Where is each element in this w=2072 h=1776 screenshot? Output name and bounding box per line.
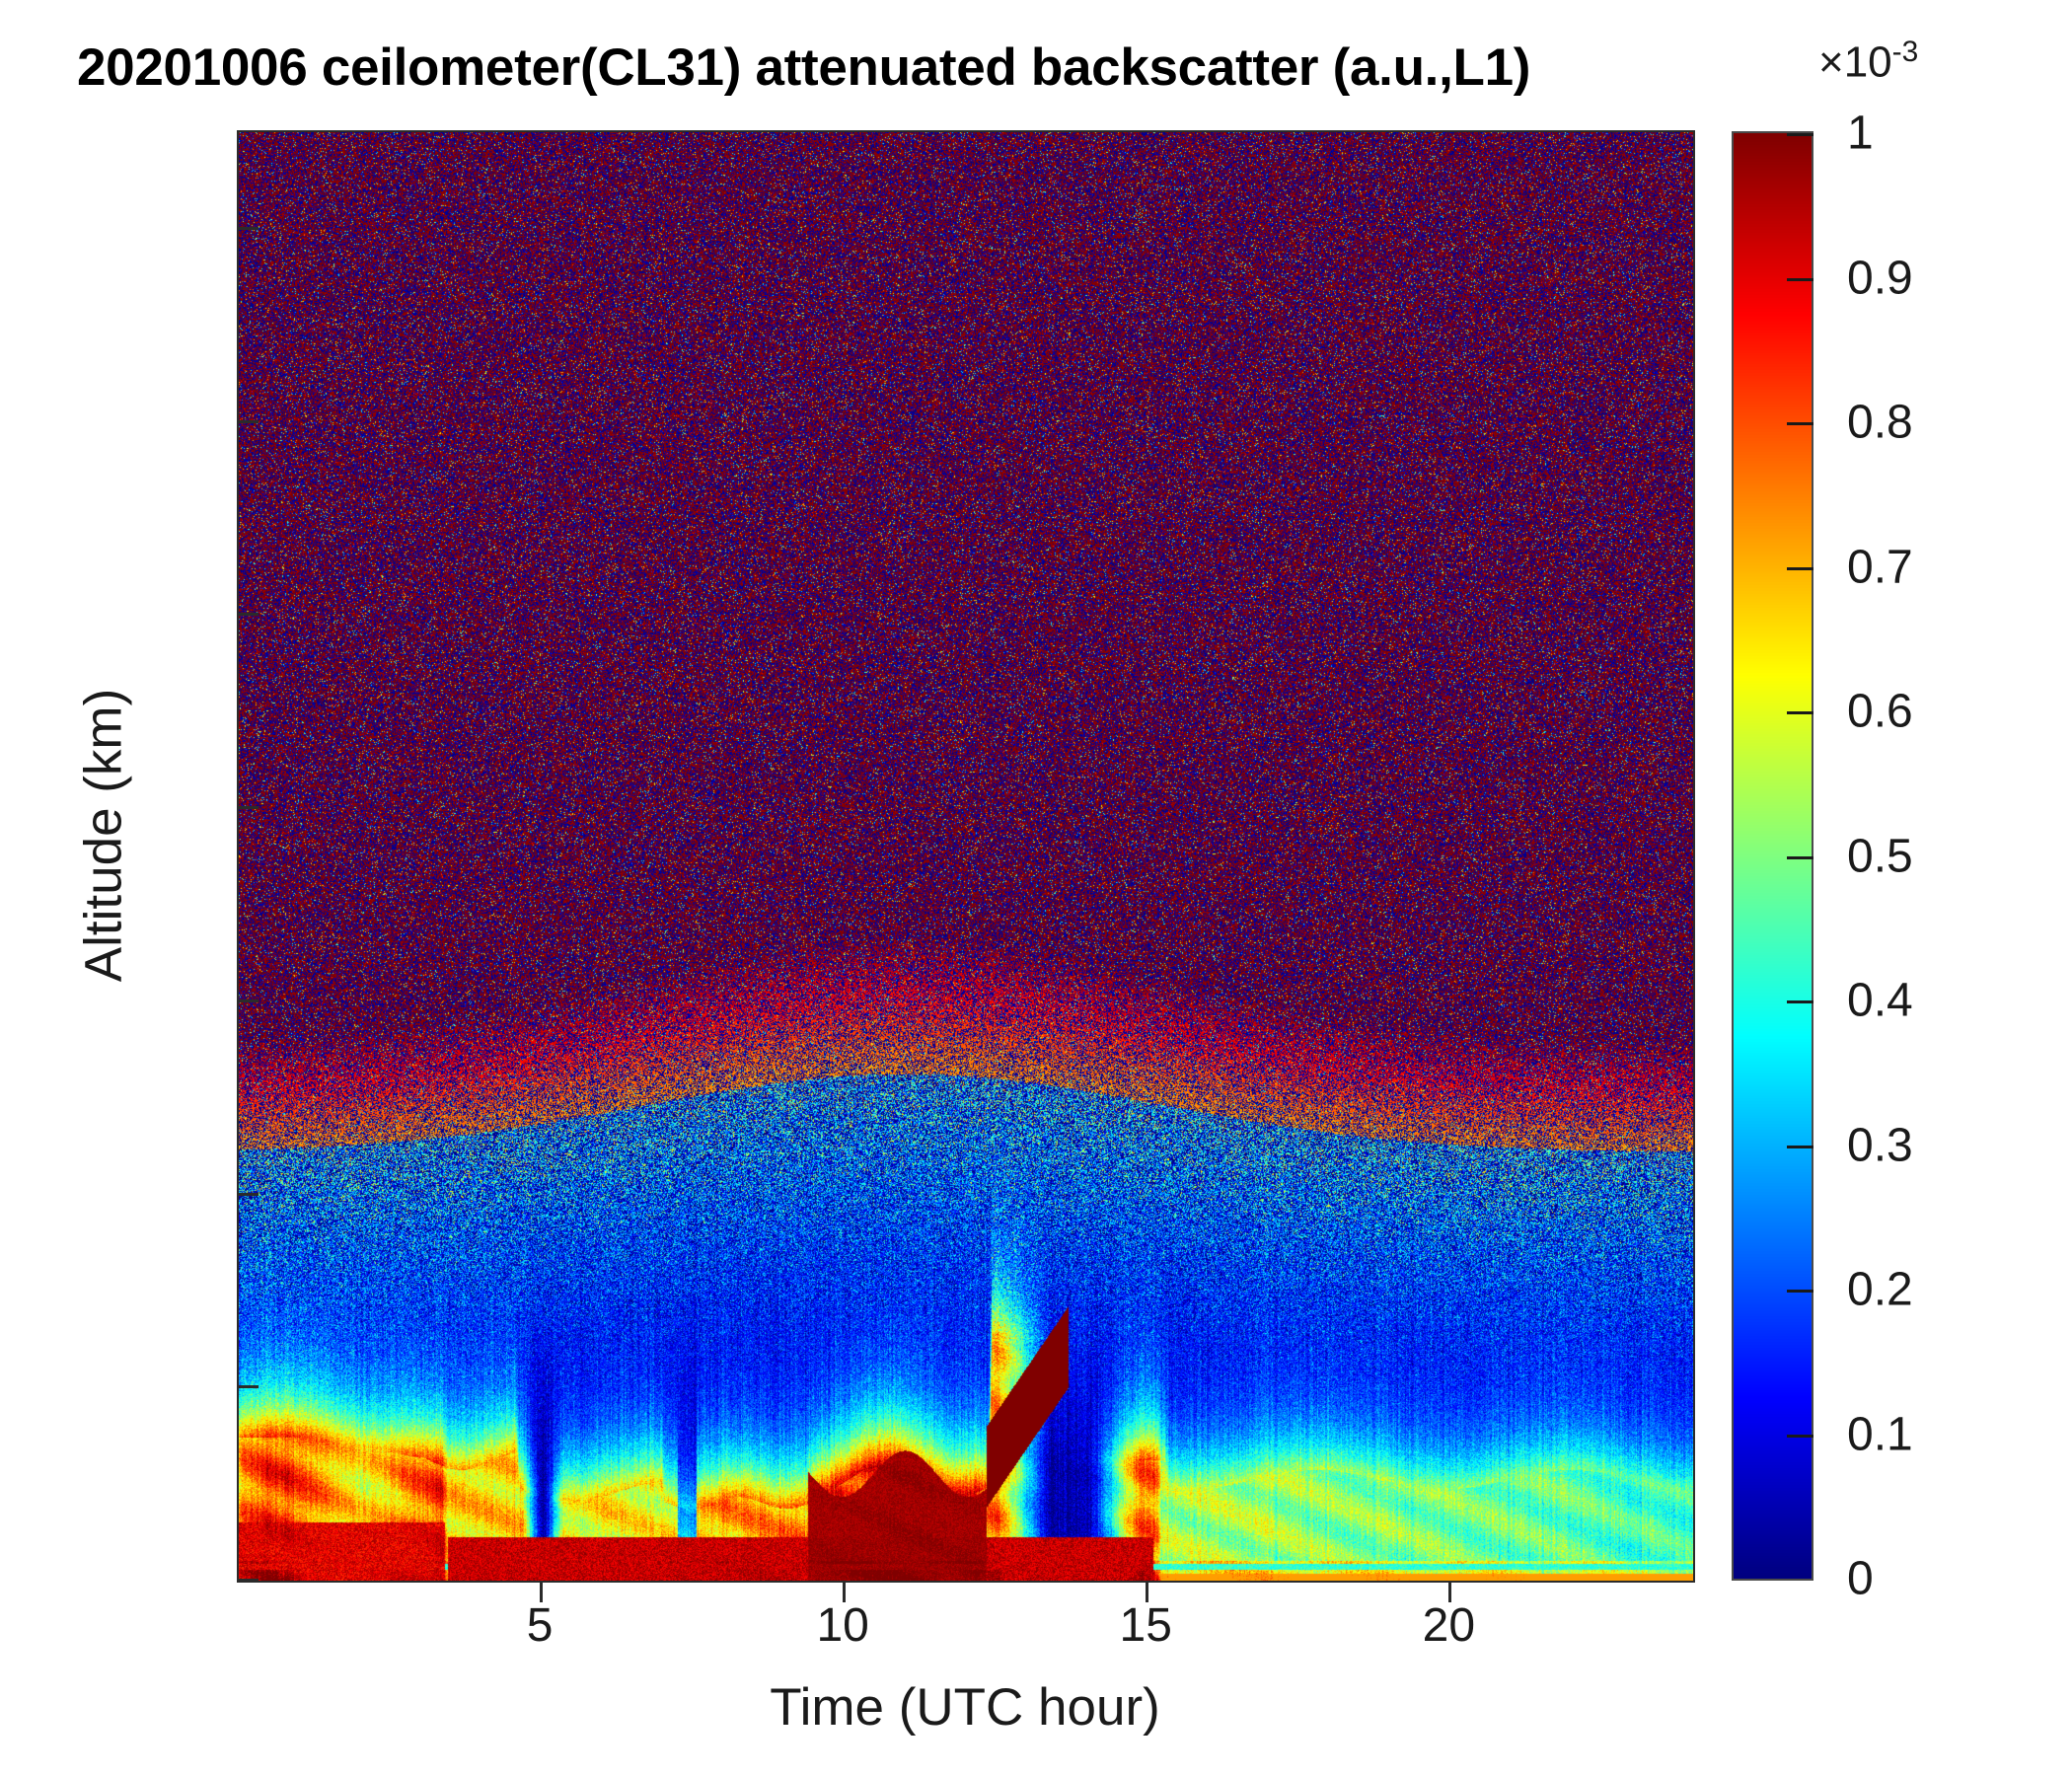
colorbar-tick-mark bbox=[1787, 1435, 1813, 1438]
y-axis-tick-mark bbox=[237, 806, 259, 809]
colorbar-tick-mark bbox=[1787, 1290, 1813, 1293]
colorbar-tick-label: 1 bbox=[1847, 107, 1874, 161]
colorbar-tick-label: 0 bbox=[1847, 1552, 1874, 1606]
y-axis-tick-mark bbox=[237, 420, 259, 423]
colorbar-tick-label: 0.3 bbox=[1847, 1118, 1913, 1172]
x-axis-tick-label: 20 bbox=[1423, 1598, 1475, 1653]
y-axis-tick-mark bbox=[237, 1385, 259, 1388]
colorbar-tick-label: 0.1 bbox=[1847, 1407, 1913, 1461]
x-axis-title: Time (UTC hour) bbox=[0, 1677, 1930, 1738]
colorbar-tick-mark bbox=[1787, 422, 1813, 425]
colorbar-tick-mark bbox=[1787, 1000, 1813, 1003]
colorbar-tick-label: 0.5 bbox=[1847, 829, 1913, 883]
colorbar-tick-label: 0.7 bbox=[1847, 540, 1913, 594]
backscatter-heatmap-canvas bbox=[239, 132, 1693, 1581]
y-axis-tick-mark bbox=[237, 1579, 259, 1582]
colorbar-tick-label: 0.4 bbox=[1847, 974, 1913, 1028]
x-axis-tick-mark bbox=[1448, 1581, 1451, 1602]
y-axis-tick-mark bbox=[237, 613, 259, 616]
colorbar-tick-mark bbox=[1787, 278, 1813, 281]
heatmap-plot-area bbox=[237, 130, 1695, 1583]
colorbar-tick-mark bbox=[1787, 856, 1813, 859]
y-axis-title: Altitude (km) bbox=[74, 111, 134, 1561]
colorbar-tick-label: 0.6 bbox=[1847, 685, 1913, 739]
y-axis-tick-mark bbox=[237, 1193, 259, 1196]
x-axis-tick-label: 5 bbox=[527, 1598, 554, 1653]
ceilometer-backscatter-figure: 20201006 ceilometer(CL31) attenuated bac… bbox=[0, 0, 2072, 1776]
x-axis-tick-mark bbox=[540, 1581, 543, 1602]
y-axis-tick-mark bbox=[237, 999, 259, 1002]
x-axis-tick-mark bbox=[1146, 1581, 1148, 1602]
page-title: 20201006 ceilometer(CL31) attenuated bac… bbox=[77, 37, 1530, 98]
y-axis-tick-mark bbox=[237, 227, 259, 230]
colorbar-tick-mark bbox=[1787, 711, 1813, 714]
x-axis-tick-label: 10 bbox=[816, 1598, 868, 1653]
colorbar-tick-mark bbox=[1787, 1146, 1813, 1148]
x-axis-tick-mark bbox=[843, 1581, 846, 1602]
colorbar-tick-mark bbox=[1787, 567, 1813, 570]
colorbar-tick-label: 0.2 bbox=[1847, 1263, 1913, 1317]
colorbar-tick-mark bbox=[1787, 133, 1813, 136]
colorbar-tick-label: 0.8 bbox=[1847, 396, 1913, 450]
colorbar-tick-label: 0.9 bbox=[1847, 251, 1913, 305]
x-axis-tick-label: 15 bbox=[1120, 1598, 1172, 1653]
colorbar-exponent-label: ×10-3 bbox=[1818, 36, 1918, 88]
